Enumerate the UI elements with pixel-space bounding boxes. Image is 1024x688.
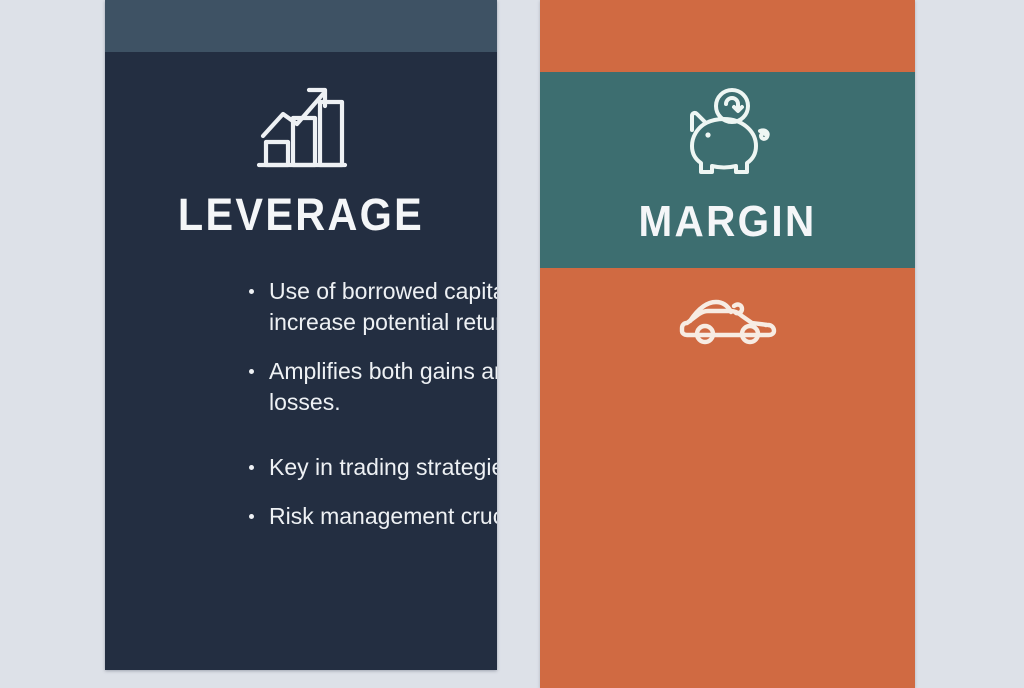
list-item: Use of borrowed capital to increase pote…	[247, 276, 497, 338]
bar-chart-growth-icon	[105, 78, 497, 174]
infographic-canvas: LEVERAGE Use of borrowed capital to incr…	[0, 0, 1024, 688]
margin-title: MARGIN	[555, 200, 900, 244]
leverage-card: LEVERAGE Use of borrowed capital to incr…	[105, 0, 497, 670]
car-icon	[540, 286, 915, 348]
list-item: Risk management crucial.	[247, 501, 497, 532]
leverage-title: LEVERAGE	[121, 192, 482, 237]
list-item: Key in trading strategies.	[247, 452, 497, 483]
piggy-bank-coin-icon	[540, 84, 915, 180]
margin-card: MARGIN Collateral required for leveraged…	[540, 0, 915, 688]
list-item: Amplifies both gains and losses.	[247, 356, 497, 418]
leverage-bullet-list: Use of borrowed capital to increase pote…	[247, 276, 497, 550]
leverage-card-header-strip	[105, 0, 497, 52]
